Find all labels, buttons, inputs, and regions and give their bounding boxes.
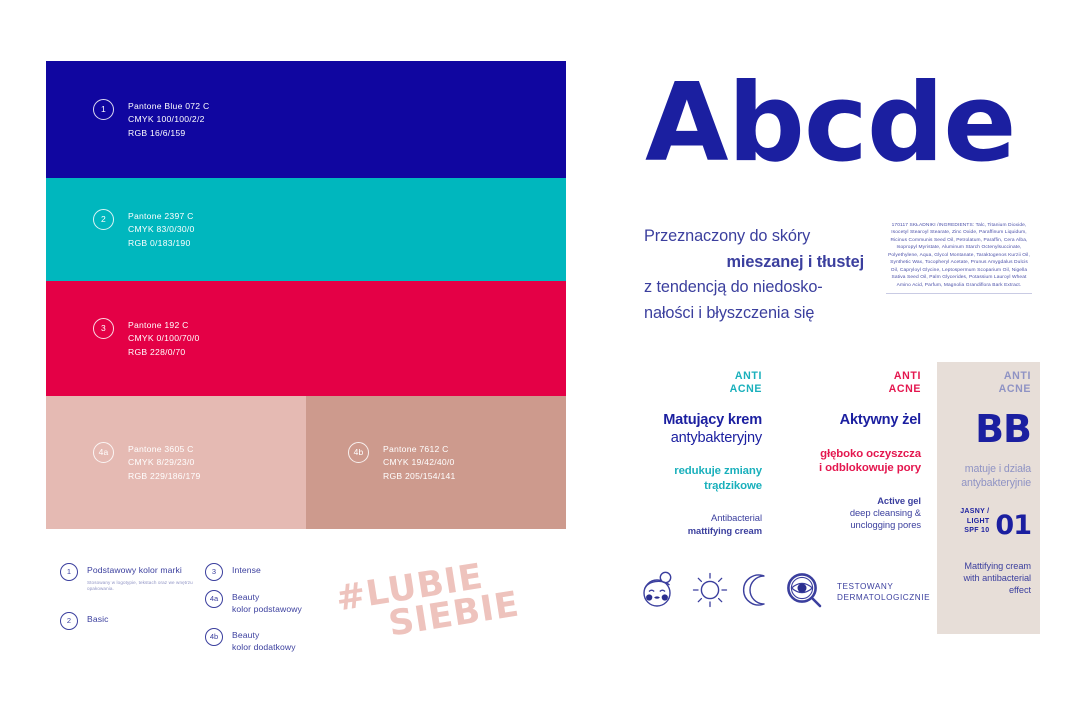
ingredients-list: 170117 SKŁADNIKI /INGREDIENTS: Talc, Tit…	[886, 222, 1032, 294]
legend-text-1: Podstawowy kolor marki Stosowany w logot…	[87, 563, 195, 592]
legend-label-4a: Beauty kolor podstawowy	[232, 590, 302, 615]
bb-logo: BB	[942, 409, 1031, 449]
sun-icon	[689, 569, 731, 616]
shade-number: 01	[995, 513, 1031, 538]
legend-item-3: 3 Intense	[205, 563, 335, 581]
spf-row: JASNY / LIGHT SPF 10 01	[942, 507, 1031, 537]
product-column-bb: ANTI ACNE BB matuje i działa antybaktery…	[937, 362, 1040, 634]
product-claim-2: głęboko oczyszcza i odblokowuje pory	[781, 447, 921, 476]
swatch-rgb-4a: RGB 229/186/179	[128, 470, 201, 483]
swatch-pantone-3: Pantone 192 C	[128, 319, 200, 332]
swatch-specs-1: Pantone Blue 072 C CMYK 100/100/2/2 RGB …	[128, 99, 209, 140]
legend-item-1: 1 Podstawowy kolor marki Stosowany w log…	[60, 563, 200, 592]
swatch-cmyk-3: CMYK 0/100/70/0	[128, 332, 200, 345]
color-swatch-1: 1 Pantone Blue 072 C CMYK 100/100/2/2 RG…	[46, 61, 566, 178]
color-palette: 1 Pantone Blue 072 C CMYK 100/100/2/2 RG…	[46, 61, 566, 529]
legend-badge-1: 1	[60, 563, 78, 581]
color-swatch-4a: 4a Pantone 3605 C CMYK 8/29/23/0 RGB 229…	[46, 396, 306, 529]
color-swatch-2: 2 Pantone 2397 C CMYK 83/0/30/0 RGB 0/18…	[46, 178, 566, 281]
product-claim-3: matuje i działa antybakteryjnie	[942, 463, 1031, 490]
product-en-line2-1: mattifying cream	[636, 525, 762, 537]
spf-label: JASNY / LIGHT SPF 10	[942, 507, 989, 537]
legend-column-right: 3 Intense 4a Beauty kolor podstawowy 4b …	[205, 563, 335, 662]
swatch-badge-1: 1	[93, 99, 114, 120]
anti-acne-label-2: ANTI ACNE	[781, 362, 921, 395]
swatch-pantone-4b: Pantone 7612 C	[383, 443, 456, 456]
product-en-1: Antibacterial mattifying cream	[636, 512, 762, 536]
palette-legend: 1 Podstawowy kolor marki Stosowany w log…	[60, 563, 330, 673]
dermatologically-tested-text: TESTOWANY DERMATOLOGICZNIE	[837, 581, 930, 604]
legend-column-left: 1 Podstawowy kolor marki Stosowany w log…	[60, 563, 200, 639]
product-en-2: Active gel deep cleansing & unclogging p…	[781, 495, 921, 532]
swatch-badge-4b: 4b	[348, 442, 369, 463]
swatch-specs-4a: Pantone 3605 C CMYK 8/29/23/0 RGB 229/18…	[128, 442, 201, 483]
product-columns: ANTI ACNE Matujący krem antybakteryjny r…	[636, 362, 1040, 557]
product-column-gel: ANTI ACNE Aktywny żel głęboko oczyszcza …	[781, 362, 921, 557]
swatch-specs-3: Pantone 192 C CMYK 0/100/70/0 RGB 228/0/…	[128, 318, 200, 359]
swatch-pantone-4a: Pantone 3605 C	[128, 443, 201, 456]
swatch-cmyk-4b: CMYK 19/42/40/0	[383, 456, 456, 469]
color-swatch-row-4: 4a Pantone 3605 C CMYK 8/29/23/0 RGB 229…	[46, 396, 566, 529]
product-name-bold-1: Matujący krem	[663, 412, 762, 428]
product-en-line1-2: Active gel	[781, 495, 921, 507]
legend-badge-4b: 4b	[205, 628, 223, 646]
product-claim-1: redukuje zmiany trądzikowe	[636, 464, 762, 493]
legend-badge-4a: 4a	[205, 590, 223, 608]
description-line-2: mieszanej i tłustej	[644, 250, 864, 276]
swatch-badge-3: 3	[93, 318, 114, 339]
certification-icons: TESTOWANY DERMATOLOGICZNIE	[638, 566, 918, 618]
legend-label-4b: Beauty kolor dodatkowy	[232, 628, 296, 653]
legend-badge-3: 3	[205, 563, 223, 581]
swatch-cmyk-4a: CMYK 8/29/23/0	[128, 456, 201, 469]
legend-label-1: Podstawowy kolor marki	[87, 563, 195, 577]
description-line-3: z tendencją do niedosko-	[644, 275, 864, 301]
legend-item-4b: 4b Beauty kolor dodatkowy	[205, 628, 335, 653]
legend-item-4a: 4a Beauty kolor podstawowy	[205, 590, 335, 615]
legend-item-2: 2 Basic	[60, 612, 200, 630]
description-line-1: Przeznaczony do skóry	[644, 224, 864, 250]
swatch-pantone-1: Pantone Blue 072 C	[128, 100, 209, 113]
legend-label-2: Basic	[87, 612, 109, 626]
swatch-rgb-4b: RGB 205/154/141	[383, 470, 456, 483]
derm-line-1: TESTOWANY	[837, 581, 930, 592]
derm-line-2: DERMATOLOGICZNIE	[837, 592, 930, 603]
legend-label-3: Intense	[232, 563, 261, 577]
product-name-light-1: antybakteryjny	[671, 430, 762, 446]
product-en-line1-1: Antibacterial	[636, 512, 762, 524]
anti-acne-label-3: ANTI ACNE	[942, 362, 1031, 395]
swatch-rgb-2: RGB 0/183/190	[128, 237, 195, 250]
swatch-badge-2: 2	[93, 209, 114, 230]
hashtag-lubie-siebie: #LUBIE SIEBIE	[330, 549, 572, 679]
product-description: Przeznaczony do skóry mieszanej i tłuste…	[644, 224, 864, 326]
swatch-cmyk-1: CMYK 100/100/2/2	[128, 113, 209, 126]
face-icon	[638, 569, 680, 616]
magnifier-eye-icon	[783, 569, 825, 616]
swatch-badge-4a: 4a	[93, 442, 114, 463]
product-en-3: Mattifying cream with antibacterial effe…	[942, 560, 1031, 596]
swatch-specs-2: Pantone 2397 C CMYK 83/0/30/0 RGB 0/183/…	[128, 209, 195, 250]
product-name-1: Matujący krem antybakteryjny	[636, 412, 762, 447]
swatch-pantone-2: Pantone 2397 C	[128, 210, 195, 223]
product-column-cream: ANTI ACNE Matujący krem antybakteryjny r…	[636, 362, 762, 557]
anti-acne-label-1: ANTI ACNE	[636, 362, 762, 395]
swatch-cmyk-2: CMYK 83/0/30/0	[128, 223, 195, 236]
description-line-4: nałości i błyszczenia się	[644, 301, 864, 327]
product-name-2: Aktywny żel	[781, 412, 921, 430]
color-swatch-3: 3 Pantone 192 C CMYK 0/100/70/0 RGB 228/…	[46, 281, 566, 396]
swatch-rgb-3: RGB 228/0/70	[128, 346, 200, 359]
legend-sub-1: Stosowany w logotypie, tekstach oraz we …	[87, 580, 195, 593]
moon-icon	[740, 569, 774, 616]
color-swatch-4b: 4b Pantone 7612 C CMYK 19/42/40/0 RGB 20…	[306, 396, 566, 529]
type-specimen: Abcde	[645, 70, 1015, 178]
swatch-specs-4b: Pantone 7612 C CMYK 19/42/40/0 RGB 205/1…	[383, 442, 456, 483]
swatch-rgb-1: RGB 16/6/159	[128, 127, 209, 140]
legend-badge-2: 2	[60, 612, 78, 630]
product-en-line2-2: deep cleansing & unclogging pores	[781, 507, 921, 531]
